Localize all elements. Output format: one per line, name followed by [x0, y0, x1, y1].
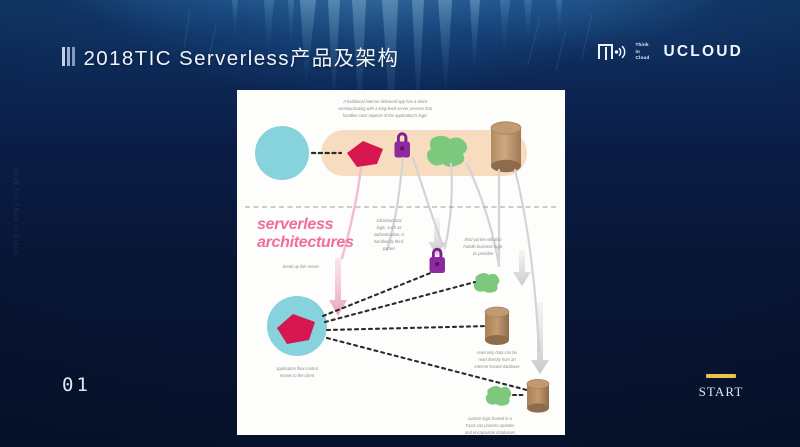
- database-caption-line-0: read-only data can be: [477, 350, 517, 355]
- infra-caption-line-3: handled by third-: [374, 239, 405, 244]
- database-cylinder-top: [491, 122, 521, 172]
- database-caption-line-1: read directly from an: [478, 357, 516, 362]
- business-logic-blob-top: [427, 136, 467, 167]
- tic-tagline-line3: Cloud: [635, 55, 649, 62]
- client-circle-top: [255, 126, 309, 180]
- logo-group: Think in Cloud UCLOUD: [598, 42, 743, 62]
- faas-arrow: [531, 302, 549, 374]
- infra-caption-line-4: parties: [382, 246, 395, 251]
- infrastructural-caption: infrastructural logic, such as authentic…: [374, 218, 405, 251]
- client-caption: application flow control moves to the cl…: [276, 366, 318, 378]
- business-logic-blob: [474, 273, 500, 293]
- top-caption-line-2: handles most aspects of the application'…: [343, 113, 427, 118]
- start-label: START: [690, 384, 752, 400]
- headline-line-1: architectures: [257, 234, 354, 251]
- faas-caption-line-1: FaaS can process updates: [466, 423, 515, 428]
- title-bars-icon: [62, 47, 75, 66]
- page-title: 2018TIC Serverless产品及架构: [62, 41, 399, 71]
- serverless-headline: serverless architectures: [257, 216, 354, 251]
- faas-function-blob: [486, 386, 512, 406]
- client-caption-line-0: application flow control: [276, 366, 318, 371]
- tic-logo: Think in Cloud: [598, 42, 649, 62]
- top-caption-line-1: communicating with a long-lived server p…: [338, 106, 433, 111]
- tic-wave-icon: [614, 44, 630, 60]
- diagram-svg: A traditional internet delivered app has…: [237, 90, 565, 435]
- edge-watermark: 2018 TIC Think in Cloud: [9, 168, 20, 255]
- headline-line-0: serverless: [257, 216, 334, 233]
- database-cylinder-faas: [527, 379, 549, 412]
- title-text: 2018TIC Serverless产品及架构: [84, 41, 400, 71]
- slide-canvas: 2018 TIC Think in Cloud 2018TIC Serverle…: [0, 0, 800, 447]
- infra-caption-line-2: authentication, is: [374, 232, 405, 237]
- top-caption: A traditional internet delivered app has…: [338, 99, 433, 118]
- top-caption-line-0: A traditional internet delivered app has…: [342, 99, 428, 104]
- ucloud-logo: UCLOUD: [664, 43, 744, 61]
- faas-caption-line-0: custom logic hosted in a: [468, 416, 513, 421]
- tic-logo-icon: [598, 44, 630, 60]
- infra-caption-line-0: infrastructural: [377, 218, 402, 223]
- start-accent-bar: [706, 374, 736, 378]
- database-cylinder-readonly: [485, 307, 509, 345]
- break-up-label: break up this server: [283, 264, 320, 269]
- faas-caption: custom logic hosted in a FaaS can proces…: [465, 416, 515, 435]
- infra-caption-line-1: logic, such as: [377, 225, 402, 230]
- thirdparty-caption-line-0: third-parties will also: [464, 237, 502, 242]
- thirdparty-arrow: [513, 250, 531, 286]
- thirdparty-caption-line-1: handle business logic: [463, 244, 502, 249]
- faas-caption-line-2: and encapsulate databases: [465, 430, 515, 435]
- client-caption-line-1: moves to the client: [280, 373, 315, 378]
- start-button[interactable]: START: [690, 374, 752, 400]
- database-caption-line-2: internet hosted database: [474, 364, 520, 369]
- page-number: 01: [62, 374, 91, 396]
- thirdparty-caption-line-2: as possible: [473, 251, 494, 256]
- serverless-architecture-diagram: A traditional internet delivered app has…: [237, 90, 565, 435]
- database-caption: read-only data can be read directly from…: [474, 350, 520, 369]
- tic-tagline: Think in Cloud: [635, 42, 649, 62]
